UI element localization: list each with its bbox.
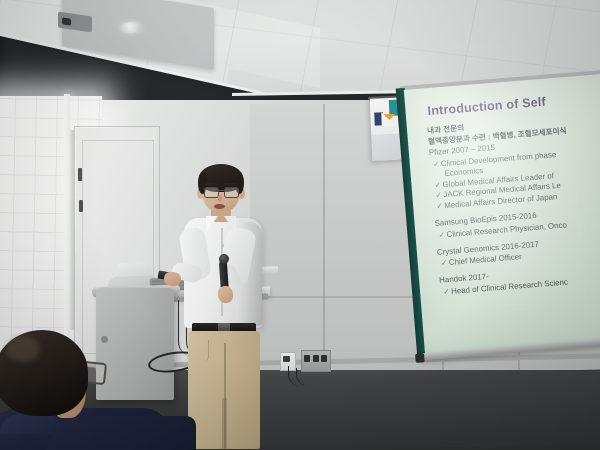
downlight-icon	[120, 22, 142, 33]
presenter-eyebrow	[224, 183, 236, 185]
attendee-hair-highlight	[6, 336, 40, 362]
presenter-nose	[218, 195, 222, 202]
screen-glare	[404, 73, 600, 355]
shirt-collar-left	[206, 216, 218, 232]
presenter-eyebrow	[205, 183, 217, 185]
screen-surface: Introduction of Self 내과 전문의 혈액종양분과 수련 : …	[404, 73, 600, 357]
foreground-attendee	[0, 330, 170, 450]
door-hinge-icon	[79, 200, 83, 212]
pants-leg-separation	[222, 398, 227, 450]
wall-seam	[323, 104, 325, 390]
plug-icon	[313, 355, 319, 362]
eyeglasses-lens-icon	[204, 187, 219, 198]
shirt-collar-right	[224, 216, 236, 232]
outlet-cable	[296, 368, 323, 386]
pants-pocket	[192, 340, 209, 362]
plug-icon	[304, 355, 310, 362]
attendee-shoulder	[46, 416, 196, 450]
logo-white-triangle-icon	[381, 112, 396, 127]
presenter	[178, 168, 296, 450]
eyeglasses-bridge-icon	[217, 190, 224, 191]
attendee-collar	[0, 414, 60, 434]
door-hinge-icon	[78, 168, 82, 181]
plug-icon	[321, 355, 327, 362]
projection-screen: Introduction of Self 내과 전문의 혈액종양분과 수련 : …	[404, 76, 600, 356]
screen-end-cap	[415, 353, 425, 363]
photo-scene: Introduction of Self 내과 전문의 혈액종양분과 수련 : …	[0, 0, 600, 450]
presenter-mouth	[214, 204, 225, 209]
eyeglasses-lens-icon	[224, 187, 239, 198]
projector-lens-icon	[62, 17, 71, 25]
